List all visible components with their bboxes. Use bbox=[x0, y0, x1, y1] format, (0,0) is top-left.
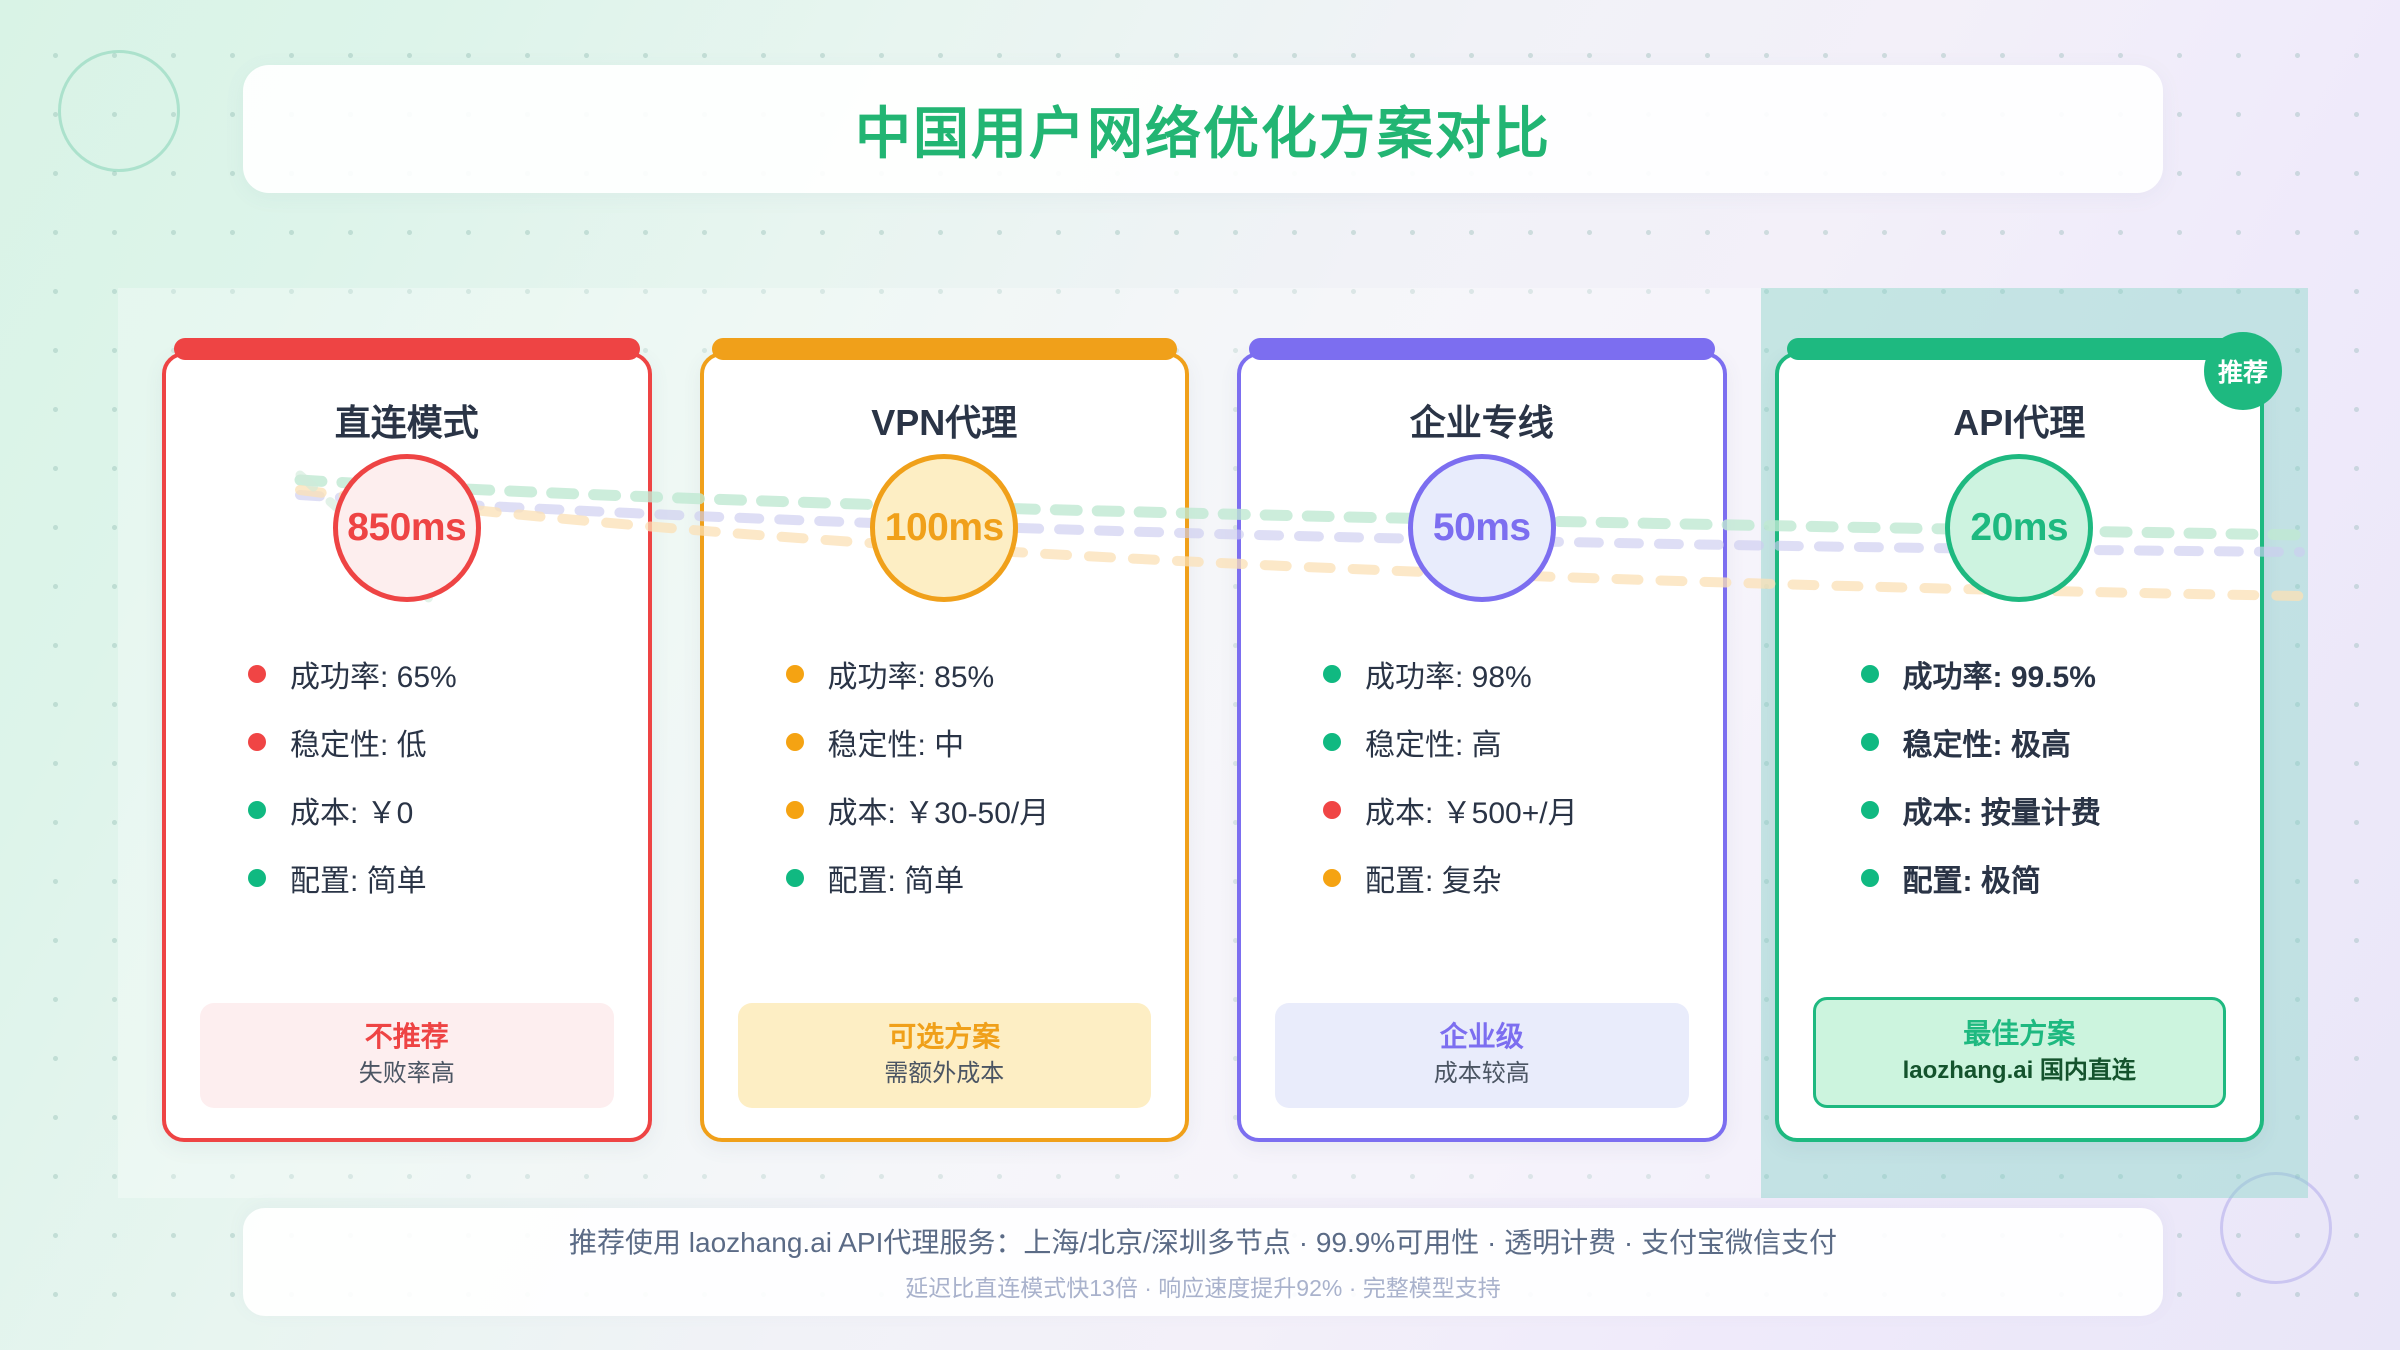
feature-item: 成功率: 98% bbox=[1323, 652, 1689, 696]
feature-label: 成本: ￥30-50/月 bbox=[828, 788, 1050, 832]
footer-secondary-text: 延迟比直连模式快13倍 · 响应速度提升92% · 完整模型支持 bbox=[905, 1269, 1501, 1303]
feature-list: 成功率: 99.5%稳定性: 极高成本: 按量计费配置: 极简 bbox=[1813, 652, 2227, 997]
card-title: 企业专线 bbox=[1410, 394, 1554, 446]
status-dot-icon bbox=[248, 801, 266, 819]
feature-item: 配置: 简单 bbox=[248, 856, 614, 900]
header-bar: 中国用户网络优化方案对比 bbox=[243, 65, 2163, 193]
latency-value: 100ms bbox=[885, 506, 1004, 550]
feature-label: 成本: ￥500+/月 bbox=[1365, 788, 1578, 832]
status-dot-icon bbox=[1861, 665, 1879, 683]
plan-card-2[interactable]: VPN代理100ms成功率: 85%稳定性: 中成本: ￥30-50/月配置: … bbox=[700, 352, 1190, 1142]
page-title: 中国用户网络优化方案对比 bbox=[855, 89, 1551, 170]
status-dot-icon bbox=[786, 733, 804, 751]
status-dot-icon bbox=[1323, 869, 1341, 887]
feature-item: 稳定性: 极高 bbox=[1861, 720, 2227, 764]
feature-label: 成功率: 99.5% bbox=[1903, 652, 2096, 696]
status-dot-icon bbox=[1861, 869, 1879, 887]
verdict-title: 最佳方案 bbox=[1826, 1016, 2214, 1051]
plan-card-4[interactable]: 推荐API代理20ms成功率: 99.5%稳定性: 极高成本: 按量计费配置: … bbox=[1775, 352, 2265, 1142]
feature-label: 成本: 按量计费 bbox=[1903, 788, 2101, 832]
feature-label: 成功率: 85% bbox=[828, 652, 995, 696]
latency-value: 20ms bbox=[1970, 506, 2068, 550]
verdict-title: 企业级 bbox=[1285, 1019, 1679, 1054]
latency-circle: 100ms bbox=[870, 454, 1018, 602]
feature-label: 配置: 简单 bbox=[828, 856, 965, 900]
status-dot-icon bbox=[786, 869, 804, 887]
feature-item: 配置: 简单 bbox=[786, 856, 1152, 900]
plan-card-1[interactable]: 直连模式850ms成功率: 65%稳定性: 低成本: ￥0配置: 简单不推荐失败… bbox=[162, 352, 652, 1142]
feature-label: 配置: 复杂 bbox=[1365, 856, 1502, 900]
feature-label: 配置: 极简 bbox=[1903, 856, 2041, 900]
card-accent-topbar bbox=[174, 338, 640, 360]
feature-label: 成功率: 98% bbox=[1365, 652, 1532, 696]
feature-label: 成本: ￥0 bbox=[290, 788, 413, 832]
verdict-box: 最佳方案laozhang.ai 国内直连 bbox=[1813, 997, 2227, 1108]
status-dot-icon bbox=[248, 869, 266, 887]
plan-card-3[interactable]: 企业专线50ms成功率: 98%稳定性: 高成本: ￥500+/月配置: 复杂企… bbox=[1237, 352, 1727, 1142]
status-dot-icon bbox=[248, 733, 266, 751]
verdict-title: 可选方案 bbox=[748, 1019, 1142, 1054]
footer-bar: 推荐使用 laozhang.ai API代理服务：上海/北京/深圳多节点 · 9… bbox=[243, 1208, 2163, 1316]
feature-label: 稳定性: 低 bbox=[290, 720, 427, 764]
feature-item: 配置: 复杂 bbox=[1323, 856, 1689, 900]
card-title: VPN代理 bbox=[871, 394, 1017, 446]
latency-circle: 50ms bbox=[1408, 454, 1556, 602]
verdict-title: 不推荐 bbox=[210, 1019, 604, 1054]
feature-list: 成功率: 65%稳定性: 低成本: ￥0配置: 简单 bbox=[200, 652, 614, 1003]
card-title: 直连模式 bbox=[335, 394, 479, 446]
card-accent-topbar bbox=[1787, 338, 2253, 360]
feature-item: 稳定性: 低 bbox=[248, 720, 614, 764]
status-dot-icon bbox=[248, 665, 266, 683]
feature-list: 成功率: 85%稳定性: 中成本: ￥30-50/月配置: 简单 bbox=[738, 652, 1152, 1003]
status-dot-icon bbox=[1323, 665, 1341, 683]
status-dot-icon bbox=[1861, 733, 1879, 751]
status-dot-icon bbox=[1323, 801, 1341, 819]
feature-label: 配置: 简单 bbox=[290, 856, 427, 900]
feature-item: 成功率: 99.5% bbox=[1861, 652, 2227, 696]
verdict-box: 可选方案需额外成本 bbox=[738, 1003, 1152, 1108]
feature-label: 稳定性: 极高 bbox=[1903, 720, 2071, 764]
card-accent-topbar bbox=[712, 338, 1178, 360]
verdict-box: 企业级成本较高 bbox=[1275, 1003, 1689, 1108]
feature-item: 成功率: 65% bbox=[248, 652, 614, 696]
feature-item: 稳定性: 高 bbox=[1323, 720, 1689, 764]
feature-label: 稳定性: 高 bbox=[1365, 720, 1502, 764]
comparison-cards-row: 直连模式850ms成功率: 65%稳定性: 低成本: ￥0配置: 简单不推荐失败… bbox=[118, 352, 2308, 1142]
latency-value: 50ms bbox=[1433, 506, 1531, 550]
feature-item: 成本: 按量计费 bbox=[1861, 788, 2227, 832]
recommended-badge: 推荐 bbox=[2204, 332, 2282, 410]
feature-item: 稳定性: 中 bbox=[786, 720, 1152, 764]
feature-list: 成功率: 98%稳定性: 高成本: ￥500+/月配置: 复杂 bbox=[1275, 652, 1689, 1003]
status-dot-icon bbox=[786, 801, 804, 819]
verdict-subtitle: 失败率高 bbox=[210, 1058, 604, 1090]
latency-value: 850ms bbox=[347, 506, 466, 550]
feature-item: 配置: 极简 bbox=[1861, 856, 2227, 900]
latency-circle: 850ms bbox=[333, 454, 481, 602]
card-title: API代理 bbox=[1953, 394, 2085, 446]
verdict-subtitle: 需额外成本 bbox=[748, 1058, 1142, 1090]
feature-item: 成本: ￥500+/月 bbox=[1323, 788, 1689, 832]
feature-item: 成本: ￥0 bbox=[248, 788, 614, 832]
feature-label: 成功率: 65% bbox=[290, 652, 457, 696]
status-dot-icon bbox=[786, 665, 804, 683]
verdict-subtitle: 成本较高 bbox=[1285, 1058, 1679, 1090]
status-dot-icon bbox=[1861, 801, 1879, 819]
card-accent-topbar bbox=[1249, 338, 1715, 360]
verdict-subtitle: laozhang.ai 国内直连 bbox=[1826, 1055, 2214, 1087]
feature-label: 稳定性: 中 bbox=[828, 720, 965, 764]
status-dot-icon bbox=[1323, 733, 1341, 751]
verdict-box: 不推荐失败率高 bbox=[200, 1003, 614, 1108]
feature-item: 成功率: 85% bbox=[786, 652, 1152, 696]
latency-circle: 20ms bbox=[1945, 454, 2093, 602]
feature-item: 成本: ￥30-50/月 bbox=[786, 788, 1152, 832]
decorative-circle-top-left bbox=[58, 50, 180, 172]
footer-primary-text: 推荐使用 laozhang.ai API代理服务：上海/北京/深圳多节点 · 9… bbox=[569, 1221, 1837, 1261]
infographic-canvas: 中国用户网络优化方案对比 直连模式850ms成功率: 65%稳定性: 低成本: … bbox=[0, 0, 2400, 1350]
